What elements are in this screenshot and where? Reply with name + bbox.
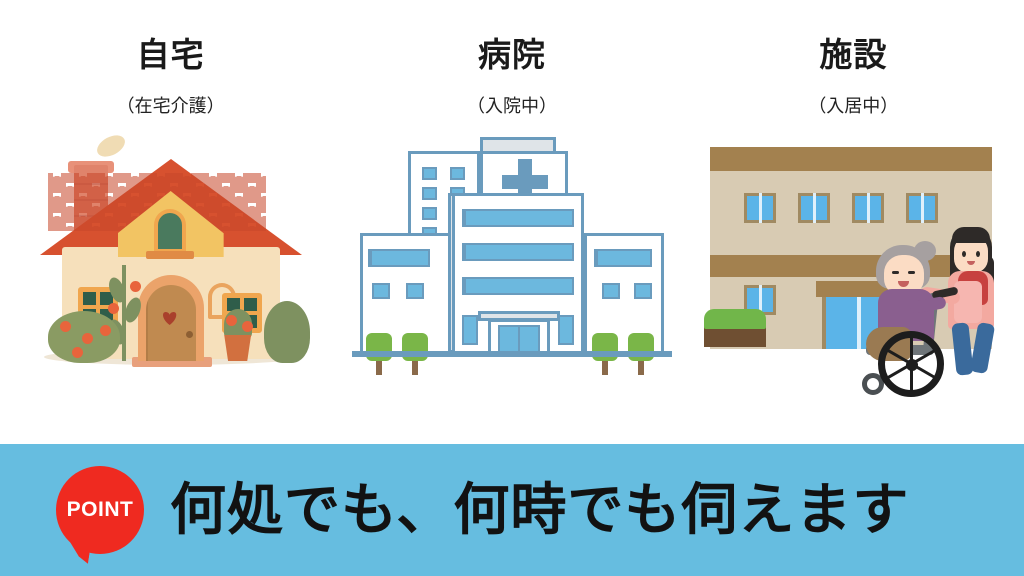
hedge bbox=[704, 309, 766, 329]
flower bbox=[100, 325, 111, 336]
flower bbox=[226, 315, 237, 326]
hospital-window bbox=[422, 207, 437, 220]
caregiver-eye bbox=[976, 251, 980, 257]
hospital-window bbox=[422, 187, 437, 200]
column-subtitle-facility: （入居中） bbox=[808, 97, 898, 115]
column-art-home bbox=[0, 131, 341, 391]
column-title-hospital: 病院 bbox=[478, 38, 546, 71]
hospital-window-tall bbox=[462, 315, 478, 345]
location-columns: 自宅 （在宅介護） bbox=[0, 0, 1024, 444]
hospital-window bbox=[634, 283, 652, 299]
hospital-window-row bbox=[462, 209, 574, 227]
facility-illustration bbox=[688, 133, 1018, 383]
flower bbox=[72, 347, 83, 358]
column-subtitle-home: （在宅介護） bbox=[117, 97, 225, 115]
column-hospital: 病院 （入院中） bbox=[341, 0, 682, 444]
flower bbox=[82, 333, 93, 344]
flower bbox=[108, 303, 119, 314]
hospital-window-row bbox=[594, 249, 652, 267]
resident-eye bbox=[892, 271, 899, 274]
caregiver-eye bbox=[962, 251, 966, 257]
hospital-window-row bbox=[462, 277, 574, 295]
column-title-facility: 施設 bbox=[819, 38, 887, 71]
caregiver-apron bbox=[954, 281, 982, 323]
caregiver-and-resident bbox=[874, 219, 1020, 383]
column-home: 自宅 （在宅介護） bbox=[0, 0, 341, 444]
flower bbox=[242, 321, 253, 332]
column-facility: 施設 （入居中） bbox=[683, 0, 1024, 444]
hospital-window bbox=[450, 167, 465, 180]
chimney-smoke-icon bbox=[93, 131, 128, 161]
hospital-window bbox=[372, 283, 390, 299]
column-art-facility bbox=[683, 131, 1024, 391]
hospital-window bbox=[422, 167, 437, 180]
illustration-stage: 自宅 （在宅介護） bbox=[0, 0, 1024, 444]
flower bbox=[60, 321, 71, 332]
caregiver-leg bbox=[970, 322, 995, 374]
facility-roof-band bbox=[710, 147, 992, 171]
hospital-window-row bbox=[462, 243, 574, 261]
hospital-entrance-canopy bbox=[478, 311, 560, 321]
hospital-window-row bbox=[368, 249, 430, 267]
facility-window bbox=[744, 193, 776, 223]
banner-message: 何処でも、何時でも伺えます bbox=[170, 482, 909, 538]
column-subtitle-hospital: （入院中） bbox=[467, 97, 557, 115]
medical-cross-icon bbox=[502, 175, 548, 189]
house-illustration bbox=[26, 135, 316, 371]
hospital-ground-line bbox=[352, 351, 672, 357]
hospital-window bbox=[406, 283, 424, 299]
garden-bush-right bbox=[264, 301, 310, 363]
attic-window-sill bbox=[146, 251, 194, 259]
facility-window bbox=[798, 193, 830, 223]
hospital-window bbox=[602, 283, 620, 299]
attic-window bbox=[154, 209, 186, 253]
point-banner: POINT 何処でも、何時でも伺えます bbox=[0, 444, 1024, 576]
column-title-home: 自宅 bbox=[137, 38, 205, 71]
hospital-illustration bbox=[352, 123, 672, 379]
column-art-hospital bbox=[341, 131, 682, 391]
resident-eye bbox=[908, 271, 915, 274]
flower bbox=[130, 281, 141, 292]
caregiver-bangs bbox=[952, 227, 990, 243]
point-badge-label: POINT bbox=[56, 466, 144, 554]
point-badge: POINT bbox=[56, 466, 144, 554]
door-knob bbox=[186, 331, 193, 338]
wheelchair-hub bbox=[906, 359, 918, 371]
hospital-window-tall bbox=[558, 315, 574, 345]
